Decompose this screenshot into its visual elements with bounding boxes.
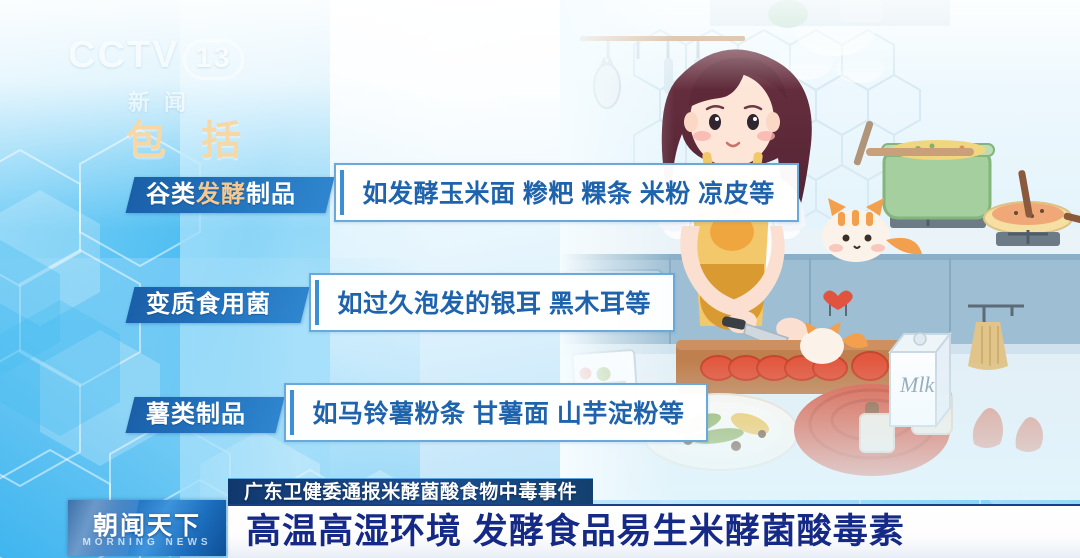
subheadline-bar: 广东卫健委通报米酵菌酸食物中毒事件 (228, 478, 593, 506)
section-banner-fungi: 变质食用菌 (126, 287, 310, 323)
section-banner-grain: 谷类发酵制品 (126, 177, 335, 213)
section-text-tuber: 如马铃薯粉条 甘薯面 山芋淀粉等 (312, 394, 684, 430)
banner-part-plain-2: 制品 (246, 181, 296, 208)
program-logo-en: MORNING NEWS (68, 537, 226, 548)
section-text-grain: 如发酵玉米面 糁粑 粿条 米粉 凉皮等 (362, 174, 774, 210)
headline-bar: 高温高湿环境 发酵食品易生米酵菌酸毒素 (228, 504, 1080, 558)
section-text-fungi: 如过久泡发的银耳 黑木耳等 (337, 284, 650, 320)
section-textbox-grain: 如发酵玉米面 糁粑 粿条 米粉 凉皮等 (334, 163, 798, 222)
section-banner-tuber-label: 薯类制品 (146, 397, 246, 433)
subheadline-text: 广东卫健委通报米酵菌酸食物中毒事件 (244, 482, 577, 503)
lower-third: 广东卫健委通报米酵菌酸食物中毒事件 高温高湿环境 发酵食品易生米酵菌酸毒素 朝闻… (0, 496, 1080, 558)
program-logo: 朝闻天下 MORNING NEWS (68, 500, 226, 556)
headline-text: 高温高湿环境 发酵食品易生米酵菌酸毒素 (246, 509, 905, 555)
banner-part-highlight: 发酵 (196, 181, 246, 208)
section-textbox-tuber: 如马铃薯粉条 甘薯面 山芋淀粉等 (284, 383, 708, 442)
info-block-tuber: 薯类制品 如马铃薯粉条 甘薯面 山芋淀粉等 (130, 386, 708, 442)
section-banner-grain-label: 谷类发酵制品 (146, 177, 296, 213)
info-block-grain: 谷类发酵制品 如发酵玉米面 糁粑 粿条 米粉 凉皮等 (130, 166, 799, 222)
section-banner-fungi-label: 变质食用菌 (146, 287, 271, 323)
section-textbox-fungi: 如过久泡发的银耳 黑木耳等 (309, 273, 674, 332)
banner-part-plain-1: 谷类 (146, 181, 196, 208)
section-banner-tuber: 薯类制品 (126, 397, 285, 433)
page-title-text: 包 括 (126, 119, 253, 163)
broadcast-screen: Mlk (0, 0, 1080, 558)
page-title: 包 括 (126, 108, 253, 166)
info-block-fungi: 变质食用菌 如过久泡发的银耳 黑木耳等 (130, 276, 675, 332)
